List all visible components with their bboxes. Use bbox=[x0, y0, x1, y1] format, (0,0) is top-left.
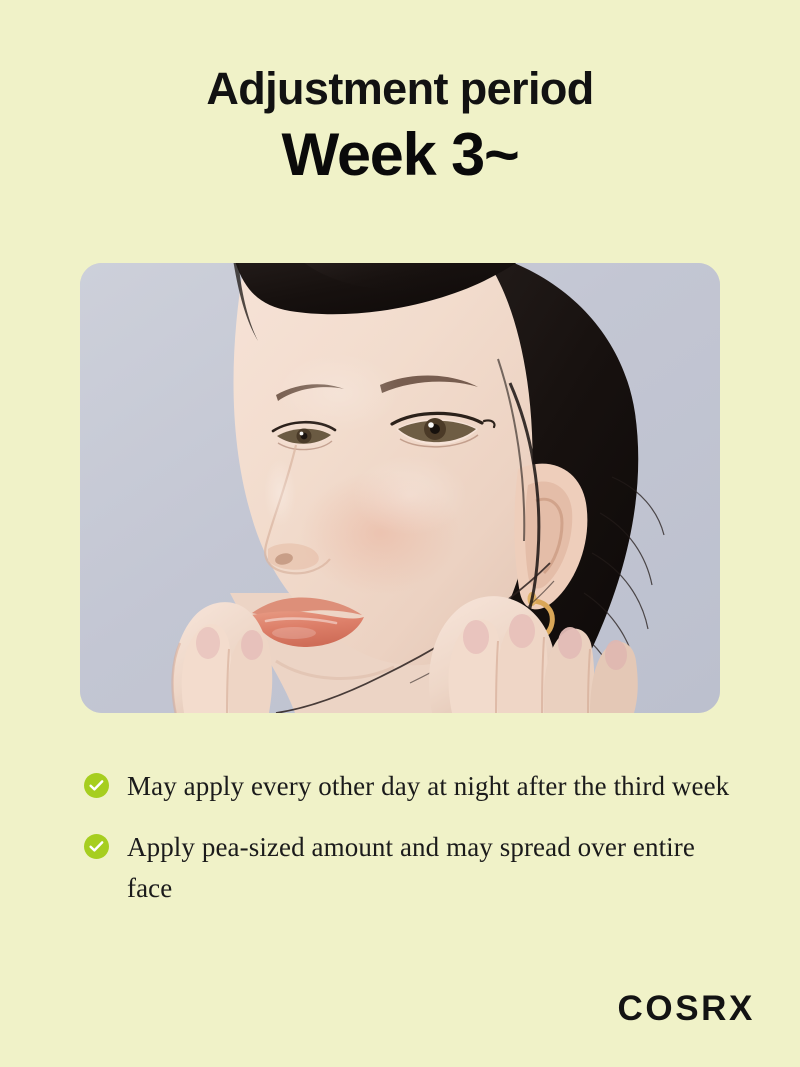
list-item-label: May apply every other day at night after… bbox=[127, 766, 729, 807]
check-circle-icon bbox=[84, 834, 109, 859]
heading-block: Adjustment period Week 3~ bbox=[0, 66, 800, 188]
list-item: Apply pea-sized amount and may spread ov… bbox=[84, 827, 744, 909]
hero-photo-illustration bbox=[80, 263, 720, 713]
instruction-list: May apply every other day at night after… bbox=[84, 766, 744, 929]
page-title-secondary: Week 3~ bbox=[0, 123, 800, 188]
page-title-primary: Adjustment period bbox=[0, 66, 800, 111]
list-item: May apply every other day at night after… bbox=[84, 766, 744, 807]
list-item-label: Apply pea-sized amount and may spread ov… bbox=[127, 827, 744, 909]
brand-logo: COSRX bbox=[618, 989, 755, 1029]
promo-card: Adjustment period Week 3~ bbox=[0, 0, 800, 1067]
check-circle-icon bbox=[84, 773, 109, 798]
hero-photo bbox=[80, 263, 720, 713]
